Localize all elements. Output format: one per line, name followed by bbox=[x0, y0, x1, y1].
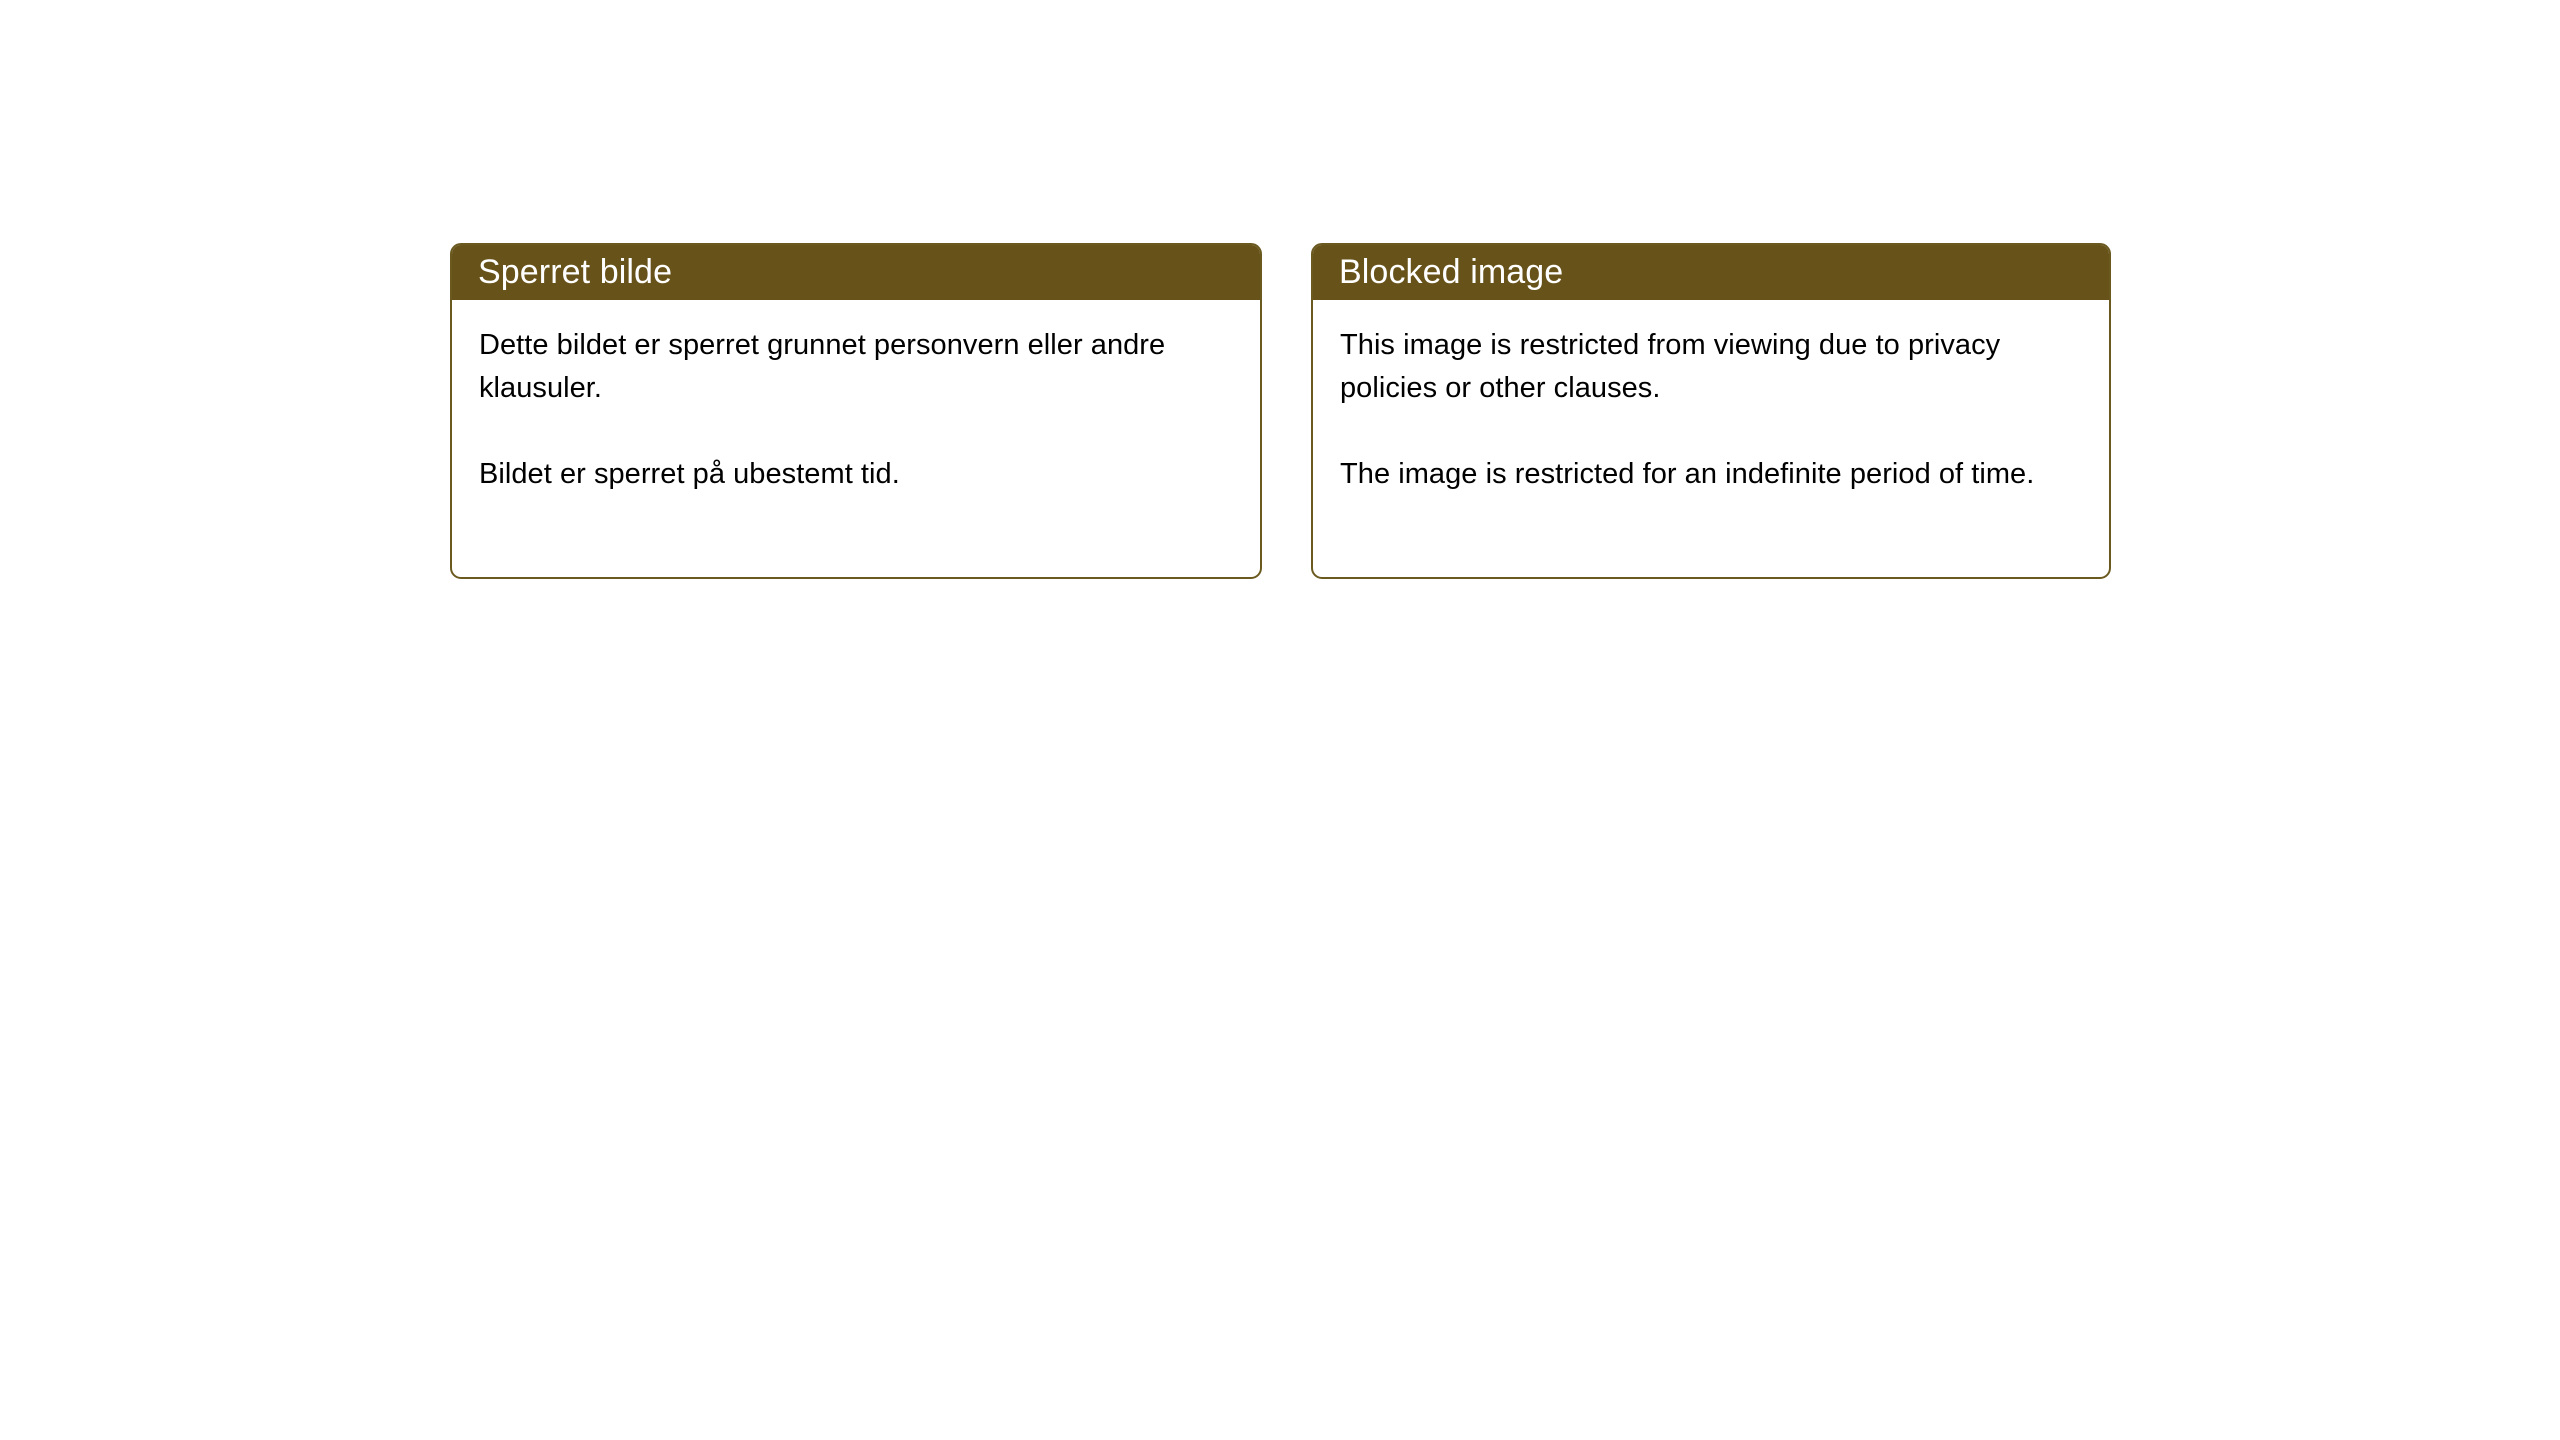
card-paragraph-primary-norwegian: Dette bildet er sperret grunnet personve… bbox=[479, 324, 1234, 410]
card-header-english: Blocked image bbox=[1311, 243, 2111, 300]
blocked-image-notice-card-english: Blocked image This image is restricted f… bbox=[1311, 243, 2111, 579]
card-body-english: This image is restricted from viewing du… bbox=[1313, 300, 2109, 496]
card-paragraph-primary-english: This image is restricted from viewing du… bbox=[1340, 324, 2083, 410]
card-paragraph-secondary-norwegian: Bildet er sperret på ubestemt tid. bbox=[479, 453, 1234, 496]
card-body-norwegian: Dette bildet er sperret grunnet personve… bbox=[452, 300, 1260, 496]
card-header-norwegian: Sperret bilde bbox=[450, 243, 1262, 300]
blocked-image-notice-card-norwegian: Sperret bilde Dette bildet er sperret gr… bbox=[450, 243, 1262, 579]
card-title-english: Blocked image bbox=[1339, 253, 1563, 291]
card-paragraph-secondary-english: The image is restricted for an indefinit… bbox=[1340, 453, 2083, 496]
card-title-norwegian: Sperret bilde bbox=[478, 253, 672, 291]
page-canvas: Sperret bilde Dette bildet er sperret gr… bbox=[0, 0, 2560, 1440]
